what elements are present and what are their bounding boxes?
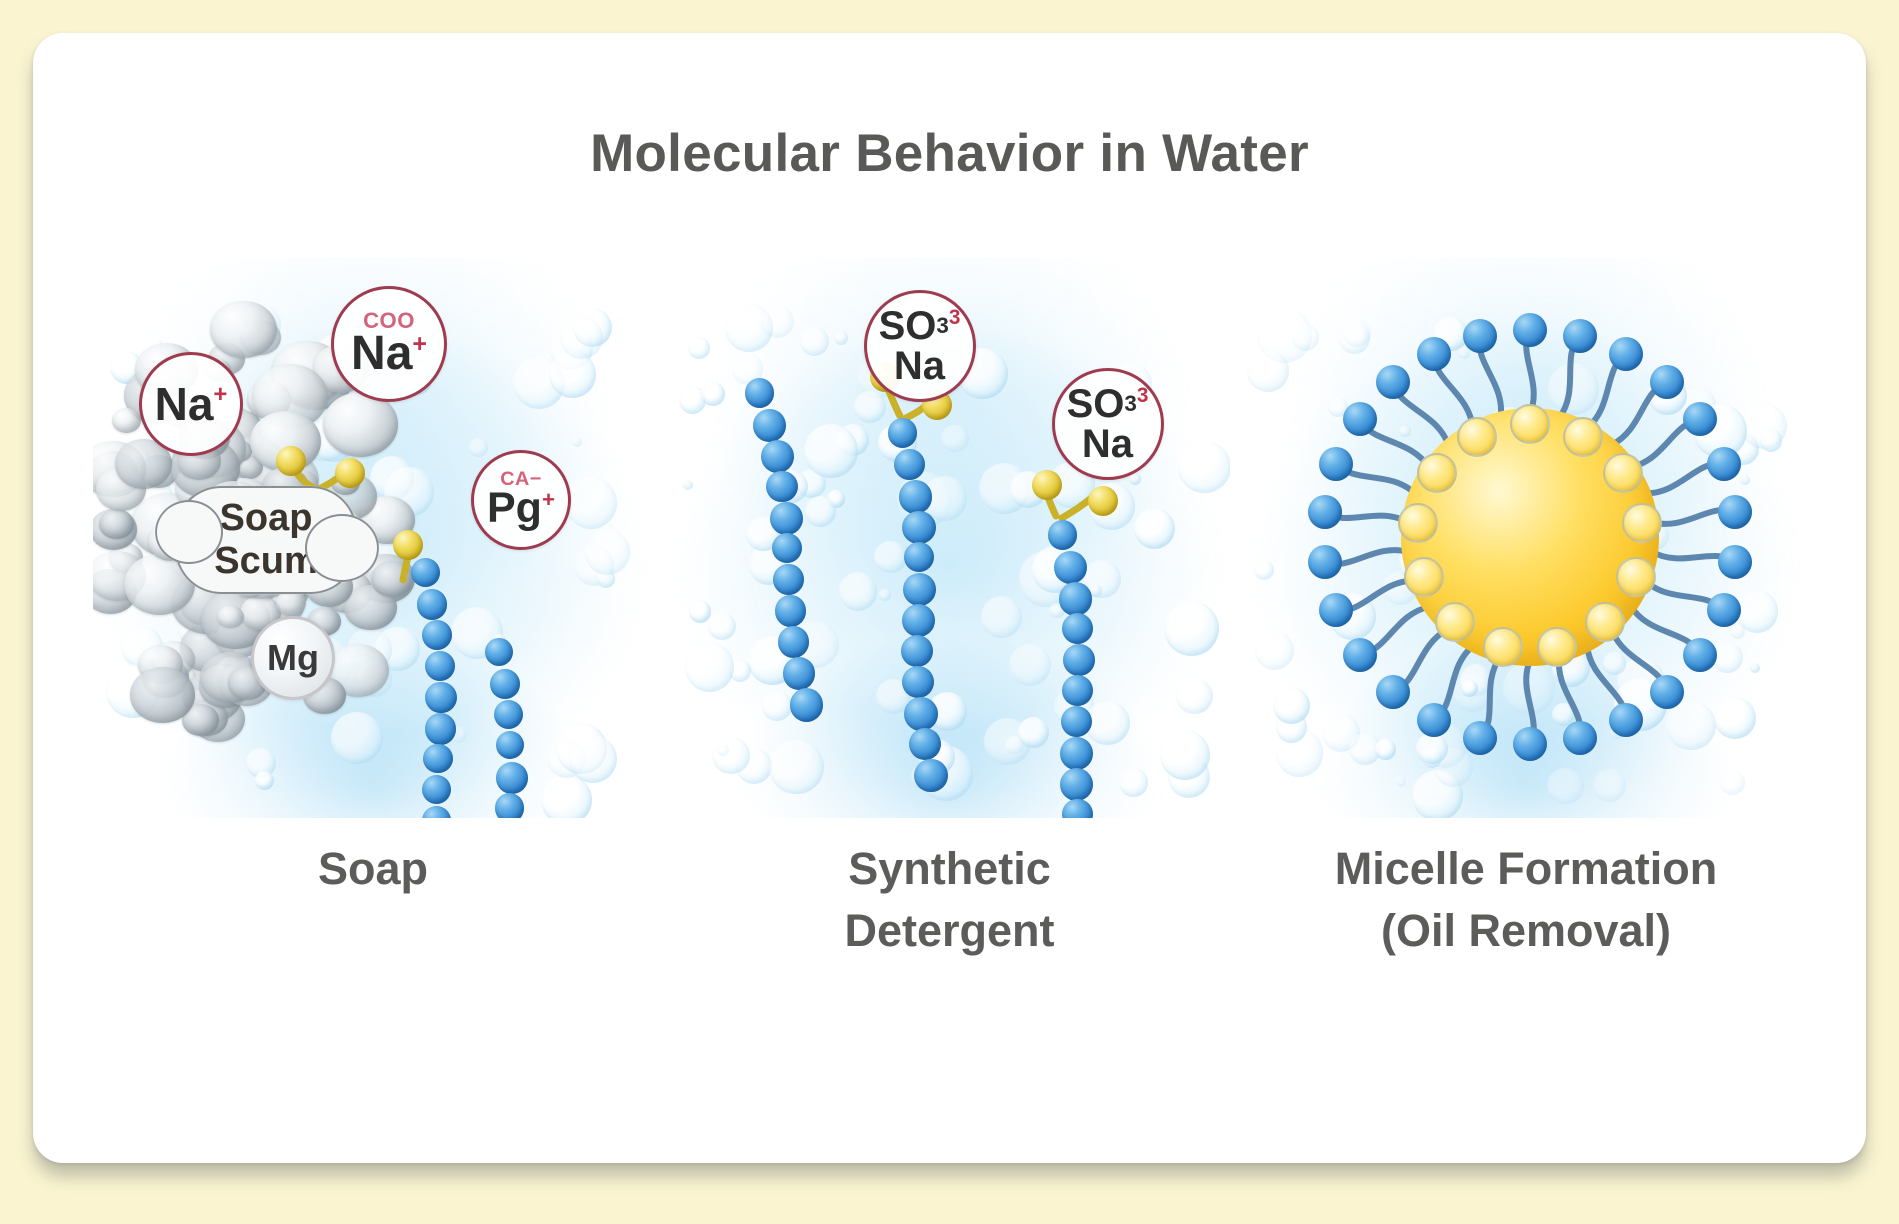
hydrocarbon-tail-bead bbox=[766, 471, 797, 502]
hydrophilic-head bbox=[1609, 337, 1643, 371]
embedded-head bbox=[1537, 627, 1577, 667]
page-background: Molecular Behavior in Water bbox=[0, 0, 1899, 1224]
hydrocarbon-tail-bead bbox=[490, 669, 520, 699]
embedded-head bbox=[1616, 557, 1656, 597]
hydrophilic-head bbox=[1343, 402, 1377, 436]
badge-calcium-precipitate: CA− Pg + bbox=[471, 450, 571, 550]
panel-label-synthetic-detergent: Synthetic Detergent bbox=[670, 838, 1230, 962]
badge-superscript: 3 bbox=[949, 308, 961, 329]
hydrocarbon-tail-bead bbox=[902, 511, 935, 544]
hydrocarbon-tail-bead bbox=[1063, 644, 1095, 676]
panel-label-line-2: (Oil Removal) bbox=[1246, 900, 1806, 962]
badge-main-text: Mg bbox=[267, 640, 319, 676]
embedded-head bbox=[1603, 453, 1643, 493]
hydrocarbon-tail-bead bbox=[778, 626, 810, 658]
hydrocarbon-tail-bead bbox=[894, 449, 925, 480]
hydrocarbon-tail-bead bbox=[1060, 737, 1093, 770]
embedded-head bbox=[1435, 602, 1475, 642]
badge-second-line: Na bbox=[894, 346, 945, 386]
panel-soap: Na + COO Na + CA− Pg bbox=[93, 258, 653, 1048]
hydrocarbon-tail-bead bbox=[783, 657, 816, 690]
hydrocarbon-tail-bead bbox=[899, 480, 933, 514]
badge-carboxylate-sodium: COO Na + bbox=[331, 286, 447, 402]
badge-superscript: + bbox=[412, 332, 427, 357]
soap-scum-callout: Soap Scum bbox=[175, 486, 357, 594]
hydrocarbon-tail-bead bbox=[1062, 799, 1092, 818]
hydrophilic-head bbox=[276, 446, 306, 476]
hydrophilic-head bbox=[1343, 638, 1377, 672]
hydrocarbon-tail-bead bbox=[770, 502, 803, 535]
panel-label-micelle: Micelle Formation (Oil Removal) bbox=[1246, 838, 1806, 962]
badge-superscript: + bbox=[542, 489, 555, 511]
hydrophilic-head bbox=[1376, 675, 1410, 709]
callout-line-2: Scum bbox=[214, 540, 317, 583]
hydrophilic-head bbox=[1417, 703, 1451, 737]
embedded-head bbox=[1417, 453, 1457, 493]
hydrocarbon-tail-bead bbox=[1054, 551, 1087, 584]
badge-sulfonate-sodium-1: SO 3 3 Na bbox=[864, 290, 976, 402]
hydrocarbon-tail-bead bbox=[422, 620, 452, 650]
hydrocarbon-tail-bead bbox=[888, 418, 918, 448]
hydrophilic-head bbox=[1513, 727, 1547, 761]
hydrophilic-head bbox=[1683, 638, 1717, 672]
hydrocarbon-tail-bead bbox=[1048, 520, 1078, 550]
micelle-illustration bbox=[1246, 258, 1806, 818]
hydrocarbon-tail-bead bbox=[417, 589, 448, 620]
hydrocarbon-tail-bead bbox=[790, 688, 824, 722]
badge-superscript: 3 bbox=[1137, 386, 1149, 407]
hydrophilic-head bbox=[1308, 495, 1342, 529]
hydrocarbon-tail-bead bbox=[904, 697, 938, 731]
hydrophilic-head bbox=[1088, 486, 1118, 516]
hydrophilic-head bbox=[1563, 721, 1597, 755]
hydrophilic-head bbox=[1308, 545, 1342, 579]
hydrocarbon-tail-bead bbox=[422, 775, 451, 804]
hydrocarbon-tail-bead bbox=[903, 573, 936, 606]
micelle-structure bbox=[1246, 258, 1806, 818]
hydrocarbon-tail-bead bbox=[904, 542, 934, 572]
panel-synthetic-detergent: SO 3 3 Na SO 3 3 Na bbox=[670, 258, 1230, 1048]
soap-illustration: Na + COO Na + CA− Pg bbox=[93, 258, 653, 818]
badge-main-text: Pg bbox=[487, 487, 542, 530]
hydrophilic-head bbox=[1513, 313, 1547, 347]
hydrocarbon-tail-bead bbox=[1060, 768, 1093, 801]
hydrophilic-head bbox=[1563, 319, 1597, 353]
hydrocarbon-tail-bead bbox=[909, 728, 941, 760]
panel-label-line-2: Detergent bbox=[670, 900, 1230, 962]
hydrocarbon-tail-bead bbox=[775, 595, 807, 627]
hydrocarbon-tail-bead bbox=[1062, 613, 1093, 644]
detergent-illustration: SO 3 3 Na SO 3 3 Na bbox=[670, 258, 1230, 818]
panel-label-line-1: Micelle Formation bbox=[1246, 838, 1806, 900]
callout-line-1: Soap bbox=[220, 497, 313, 540]
hydrocarbon-tail-bead bbox=[423, 744, 452, 773]
badge-subscript: 3 bbox=[936, 315, 948, 337]
hydrophilic-head bbox=[1417, 337, 1451, 371]
hydrophilic-head bbox=[393, 530, 423, 560]
hydrocarbon-tail-bead bbox=[495, 793, 525, 818]
panel-label-line-1: Soap bbox=[93, 838, 653, 900]
badge-superscript: + bbox=[213, 383, 227, 407]
badge-main-text: Na bbox=[155, 381, 214, 427]
hydrophilic-head bbox=[335, 458, 365, 488]
hydrocarbon-tail-bead bbox=[753, 409, 786, 442]
hydrocarbon-tail-bead bbox=[902, 666, 934, 698]
hydrocarbon-tail-bead bbox=[761, 440, 794, 473]
badge-magnesium-ion: Mg bbox=[251, 616, 335, 700]
hydrophilic-head bbox=[1707, 447, 1741, 481]
embedded-head bbox=[1510, 404, 1550, 444]
panel-label-line-1: Synthetic bbox=[670, 838, 1230, 900]
badge-main-text: SO bbox=[1067, 384, 1125, 424]
content-card: Molecular Behavior in Water bbox=[33, 33, 1866, 1163]
panel-micelle: Micelle Formation (Oil Removal) bbox=[1246, 258, 1806, 1048]
hydrocarbon-tail-bead bbox=[1059, 582, 1093, 616]
hydrophilic-head bbox=[1032, 470, 1062, 500]
hydrocarbon-tail-bead bbox=[425, 682, 456, 713]
hydrocarbon-tail-bead bbox=[425, 713, 457, 745]
hydrophilic-head bbox=[1319, 447, 1353, 481]
hydrocarbon-tail-bead bbox=[773, 564, 804, 595]
embedded-head bbox=[1398, 503, 1438, 543]
hydrophilic-head bbox=[1650, 675, 1684, 709]
hydrocarbon-tail-bead bbox=[745, 378, 775, 408]
hydrophilic-head bbox=[1376, 365, 1410, 399]
badge-subscript: 3 bbox=[1124, 393, 1136, 415]
panels-row: Na + COO Na + CA− Pg bbox=[93, 258, 1806, 1048]
hydrocarbon-tail-bead bbox=[496, 762, 528, 794]
embedded-head bbox=[1585, 602, 1625, 642]
embedded-head bbox=[1563, 417, 1603, 457]
panel-label-soap: Soap bbox=[93, 838, 653, 900]
badge-second-line: Na bbox=[1082, 424, 1133, 464]
badge-main-text: SO bbox=[879, 306, 937, 346]
badge-sodium-ion: Na + bbox=[139, 352, 243, 456]
hydrocarbon-tail-bead bbox=[411, 558, 440, 587]
badge-main-text: Na bbox=[351, 330, 412, 378]
hydrocarbon-tail-bead bbox=[485, 638, 513, 666]
badge-sulfonate-sodium-2: SO 3 3 Na bbox=[1052, 368, 1164, 480]
page-title: Molecular Behavior in Water bbox=[33, 123, 1866, 184]
embedded-head bbox=[1483, 627, 1523, 667]
hydrophilic-head bbox=[1707, 593, 1741, 627]
